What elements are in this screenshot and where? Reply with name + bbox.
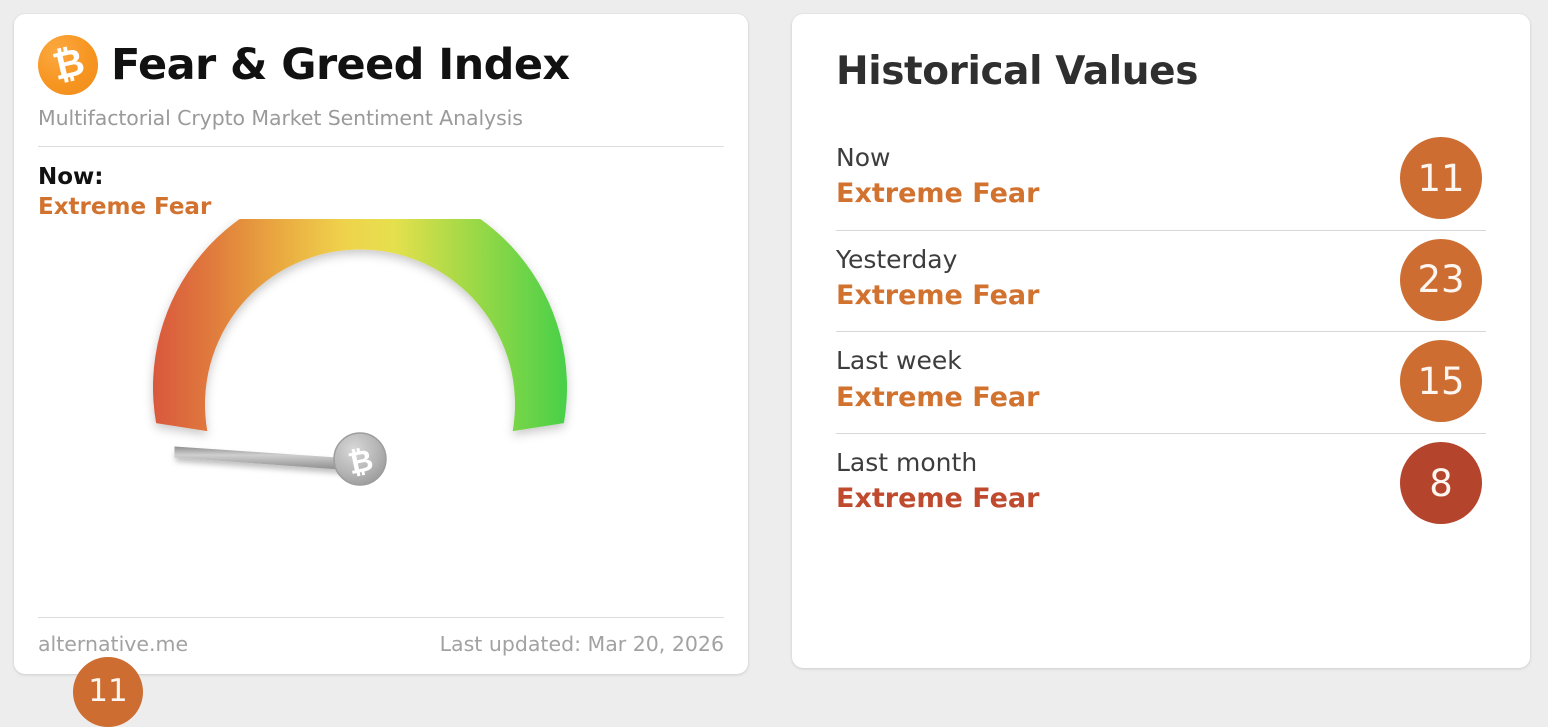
needle-hub-bitcoin-icon: ₿: [334, 433, 386, 485]
fear-greed-gauge-card: ₿ Fear & Greed Index Multifactorial Cryp…: [14, 14, 748, 674]
history-classification: Extreme Fear: [836, 481, 1486, 517]
list-item[interactable]: Now Extreme Fear 11: [836, 129, 1486, 231]
last-updated-text: Last updated: Mar 20, 2026: [440, 632, 724, 656]
gauge-card-header: ₿ Fear & Greed Index Multifactorial Cryp…: [14, 14, 748, 147]
bitcoin-glyph: ₿: [49, 42, 88, 86]
gauge-needle: [175, 446, 361, 471]
historical-inner: Historical Values Now Extreme Fear 11 Ye…: [792, 14, 1530, 535]
gauge-arc: [153, 219, 567, 431]
history-classification: Extreme Fear: [836, 176, 1486, 212]
list-item[interactable]: Last month Extreme Fear 8: [836, 434, 1486, 535]
now-block: Now: Extreme Fear: [14, 147, 748, 223]
history-period: Yesterday: [836, 244, 1486, 275]
gauge-svg: ₿: [14, 219, 748, 619]
now-label: Now:: [38, 163, 724, 192]
gauge-chart: ₿ 11: [14, 219, 748, 579]
gauge-card-footer: alternative.me Last updated: Mar 20, 202…: [38, 617, 724, 656]
page-root: ₿ Fear & Greed Index Multifactorial Cryp…: [0, 0, 1548, 688]
page-title: Fear & Greed Index: [111, 44, 570, 87]
historical-values-card: Historical Values Now Extreme Fear 11 Ye…: [792, 14, 1530, 668]
gauge-value-badge: 11: [73, 657, 143, 727]
history-value-badge: 8: [1400, 442, 1482, 524]
history-period: Now: [836, 142, 1486, 173]
page-subtitle: Multifactorial Crypto Market Sentiment A…: [38, 106, 724, 130]
title-row: ₿ Fear & Greed Index: [38, 34, 724, 96]
history-period: Last week: [836, 345, 1486, 376]
history-classification: Extreme Fear: [836, 278, 1486, 314]
source-link[interactable]: alternative.me: [38, 632, 188, 656]
footer-row: alternative.me Last updated: Mar 20, 202…: [38, 618, 724, 656]
historical-list: Now Extreme Fear 11 Yesterday Extreme Fe…: [836, 129, 1486, 535]
list-item[interactable]: Last week Extreme Fear 15: [836, 332, 1486, 434]
list-item[interactable]: Yesterday Extreme Fear 23: [836, 231, 1486, 333]
historical-title: Historical Values: [836, 52, 1486, 91]
history-value-badge: 15: [1400, 340, 1482, 422]
history-value-badge: 23: [1400, 239, 1482, 321]
history-classification: Extreme Fear: [836, 380, 1486, 416]
history-period: Last month: [836, 447, 1486, 478]
bitcoin-icon: ₿: [38, 35, 98, 95]
history-value-badge: 11: [1400, 137, 1482, 219]
